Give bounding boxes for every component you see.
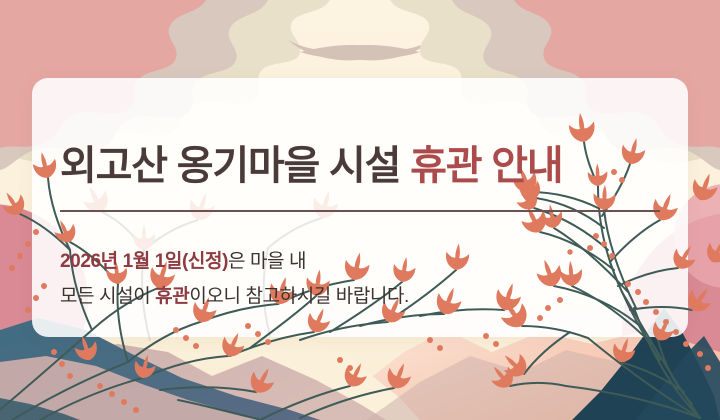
title-divider bbox=[60, 210, 660, 212]
notice-line-2: 모든 시설이 휴관이오니 참고하시길 바랍니다. bbox=[60, 281, 409, 308]
notice-date: 2026년 1월 1일(신정) bbox=[60, 251, 228, 272]
page-title: 외고산 옹기마을 시설 휴관 안내 bbox=[60, 133, 562, 191]
notice-line-1: 2026년 1월 1일(신정)은 마을 내 bbox=[60, 246, 306, 273]
notice-line-2-pre: 모든 시설이 bbox=[60, 286, 155, 307]
poster-content: 외고산 옹기마을 시설 휴관 안내 2026년 1월 1일(신정)은 마을 내 … bbox=[0, 0, 720, 420]
notice-line-1-rest: 은 마을 내 bbox=[228, 251, 306, 272]
holiday-closure-poster: 외고산 옹기마을 시설 휴관 안내 2026년 1월 1일(신정)은 마을 내 … bbox=[0, 0, 720, 420]
page-title-main: 외고산 옹기마을 시설 bbox=[60, 144, 410, 188]
notice-line-2-post: 이오니 참고하시길 바랍니다. bbox=[189, 286, 409, 307]
notice-closure-keyword: 휴관 bbox=[155, 286, 189, 307]
page-title-accent: 휴관 안내 bbox=[410, 144, 562, 188]
